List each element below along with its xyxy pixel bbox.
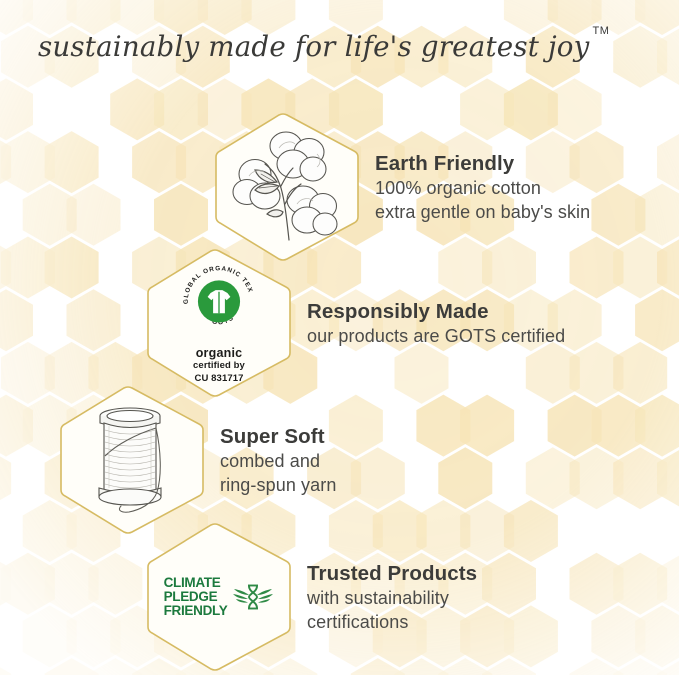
hex-card-climate-pledge: CLIMATE PLEDGE FRIENDLY [145, 522, 293, 672]
feature-title: Trusted Products [307, 561, 477, 586]
headline-script-svg: sustainably made for life's greatest joy… [30, 18, 650, 74]
climate-pledge-logo-holder: CLIMATE PLEDGE FRIENDLY [163, 535, 275, 660]
feature-line: combed and [220, 450, 336, 474]
cpf-line-2: PLEDGE [164, 590, 218, 604]
thread-spool-icon [77, 398, 187, 522]
feature-line: with sustainability [307, 587, 477, 611]
feature-text-earth-friendly: Earth Friendly 100% organic cotton extra… [375, 149, 590, 224]
feature-text-super-soft: Super Soft combed and ring-spun yarn [220, 422, 336, 497]
headline-text: sustainably made for life's greatest joy [38, 30, 590, 63]
trademark-symbol: TM [592, 25, 609, 37]
gots-certified-by-label: certified by [193, 360, 245, 373]
hourglass-wings-icon [232, 580, 274, 614]
cpf-line-1: CLIMATE [164, 576, 221, 590]
feature-line: ring-spun yarn [220, 474, 336, 498]
hex-card-gots: GLOBAL ORGANIC TEXTILE STANDARD · GOTS ·… [145, 248, 293, 398]
hex-card-cotton [213, 112, 361, 262]
cotton-boll-icon [231, 126, 343, 248]
feature-line: 100% organic cotton [375, 177, 590, 201]
gots-organic-label: organic [196, 346, 243, 360]
feature-row-responsibly-made: GLOBAL ORGANIC TEXTILE STANDARD · GOTS ·… [145, 248, 565, 398]
feature-row-earth-friendly: Earth Friendly 100% organic cotton extra… [213, 112, 590, 262]
feature-line: our products are GOTS certified [307, 325, 565, 349]
climate-pledge-wordmark: CLIMATE PLEDGE FRIENDLY [164, 576, 228, 618]
feature-line: certifications [307, 611, 477, 635]
feature-text-responsibly-made: Responsibly Made our products are GOTS c… [307, 297, 565, 348]
spool-illustration-holder [76, 398, 188, 523]
feature-row-super-soft: Super Soft combed and ring-spun yarn [58, 385, 336, 535]
feature-text-trusted-products: Trusted Products with sustainability cer… [307, 559, 477, 634]
headline-banner: sustainably made for life's greatest joy… [0, 16, 679, 76]
feature-title: Earth Friendly [375, 151, 590, 176]
cpf-line-3: FRIENDLY [164, 604, 228, 618]
feature-title: Super Soft [220, 424, 336, 449]
gots-seal-holder: GLOBAL ORGANIC TEXTILE STANDARD · GOTS ·… [163, 261, 275, 386]
feature-row-trusted-products: CLIMATE PLEDGE FRIENDLY [145, 522, 477, 672]
climate-pledge-friendly-logo: CLIMATE PLEDGE FRIENDLY [164, 576, 275, 618]
cotton-illustration-holder [231, 125, 343, 250]
gots-certificate-number: CU 831717 [195, 373, 244, 386]
gots-seal-icon: GLOBAL ORGANIC TEXTILE STANDARD · GOTS · [171, 261, 267, 342]
feature-title: Responsibly Made [307, 299, 565, 324]
feature-line: extra gentle on baby's skin [375, 201, 590, 225]
hex-card-spool [58, 385, 206, 535]
infographic-canvas: sustainably made for life's greatest joy… [0, 0, 679, 675]
